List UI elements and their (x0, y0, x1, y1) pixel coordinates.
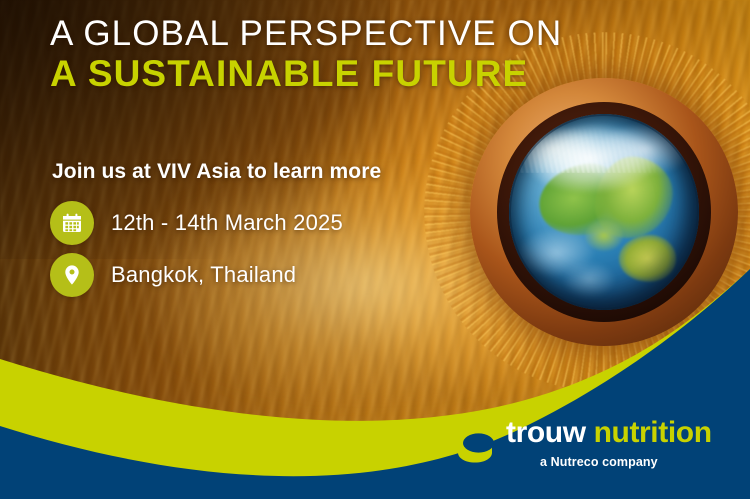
headline-line-1: A GLOBAL PERSPECTIVE ON (50, 14, 570, 53)
promotional-banner: A GLOBAL PERSPECTIVE ON A SUSTAINABLE FU… (0, 0, 750, 499)
logo-wordmark: trouw nutrition (506, 418, 712, 448)
logo-word-trouw: trouw (506, 416, 586, 449)
event-date-row: 12th - 14th March 2025 (50, 201, 343, 245)
event-date-text: 12th - 14th March 2025 (111, 210, 343, 236)
calendar-icon (50, 201, 94, 245)
headline-block: A GLOBAL PERSPECTIVE ON A SUSTAINABLE FU… (50, 14, 570, 95)
logo-text-block: trouw nutrition a Nutreco company (506, 418, 712, 469)
event-location-row: Bangkok, Thailand (50, 253, 296, 297)
map-pin-icon (50, 253, 94, 297)
headline-line-2: A SUSTAINABLE FUTURE (50, 53, 570, 94)
event-location-text: Bangkok, Thailand (111, 262, 296, 288)
logo-tagline: a Nutreco company (540, 455, 712, 469)
trouw-nutrition-logo: trouw nutrition a Nutreco company (455, 418, 712, 470)
logo-word-nutrition: nutrition (594, 416, 712, 449)
subheadline: Join us at VIV Asia to learn more (52, 160, 381, 184)
trouw-ring-mark-icon (455, 421, 495, 470)
